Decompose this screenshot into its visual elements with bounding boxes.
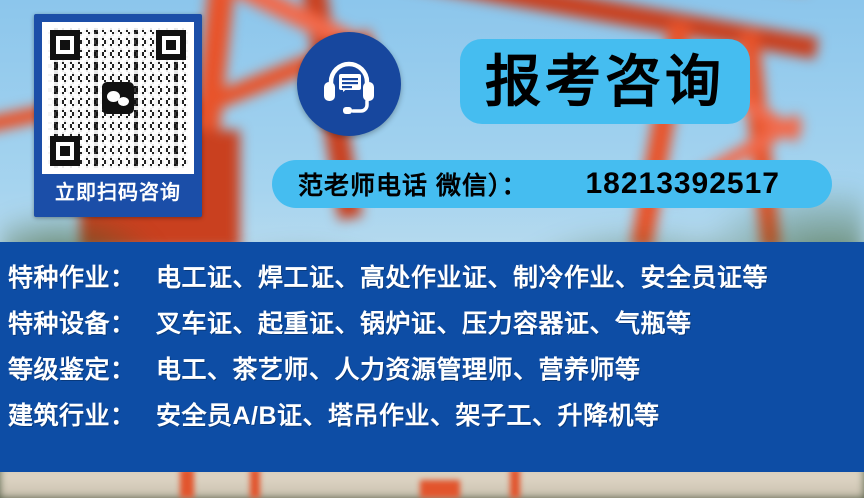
info-row: 特种设备： 叉车证、起重证、锅炉证、压力容器证、气瓶等 <box>8 304 864 350</box>
info-row-value: 电工、茶艺师、人力资源管理师、营养师等 <box>156 350 641 386</box>
headset-support-badge <box>297 32 401 136</box>
qr-code-image[interactable] <box>48 28 188 168</box>
headline-pill: 报考咨询 <box>460 39 750 124</box>
qr-card[interactable]: 立即扫码咨询 <box>34 14 202 217</box>
qr-code-area[interactable] <box>42 22 194 174</box>
certificate-list-panel: 特种作业： 电工证、焊工证、高处作业证、制冷作业、安全员证等 特种设备： 叉车证… <box>0 242 864 472</box>
contact-pill[interactable]: 范老师电话 微信）： 18213392517 <box>272 160 832 208</box>
contact-phone-number[interactable]: 18213392517 <box>585 167 780 201</box>
info-row: 建筑行业： 安全员A/B证、塔吊作业、架子工、升降机等 <box>8 396 864 442</box>
info-row-value: 叉车证、起重证、锅炉证、压力容器证、气瓶等 <box>156 304 692 340</box>
info-row-label: 建筑行业： <box>8 396 156 432</box>
headline-text: 报考咨询 <box>485 54 725 110</box>
info-row-label: 特种设备： <box>8 304 156 340</box>
wechat-bubbles-icon <box>107 90 129 106</box>
qr-finder-top-right <box>156 30 186 60</box>
info-row: 特种作业： 电工证、焊工证、高处作业证、制冷作业、安全员证等 <box>8 258 864 304</box>
info-row: 等级鉴定： 电工、茶艺师、人力资源管理师、营养师等 <box>8 350 864 396</box>
contact-label: 范老师电话 微信）： <box>298 166 527 202</box>
qr-finder-top-left <box>50 30 80 60</box>
qr-finder-bottom-left <box>50 136 80 166</box>
info-row-value: 安全员A/B证、塔吊作业、架子工、升降机等 <box>156 396 660 432</box>
promo-poster: 立即扫码咨询 报考咨询 范老师电话 微信）： 18213392517 特种作业：… <box>0 0 864 498</box>
info-row-label: 特种作业： <box>8 258 156 294</box>
headset-icon <box>317 52 381 116</box>
info-row-label: 等级鉴定： <box>8 350 156 386</box>
wechat-logo-icon <box>102 82 134 114</box>
info-row-value: 电工证、焊工证、高处作业证、制冷作业、安全员证等 <box>156 258 768 294</box>
qr-caption: 立即扫码咨询 <box>37 176 199 210</box>
